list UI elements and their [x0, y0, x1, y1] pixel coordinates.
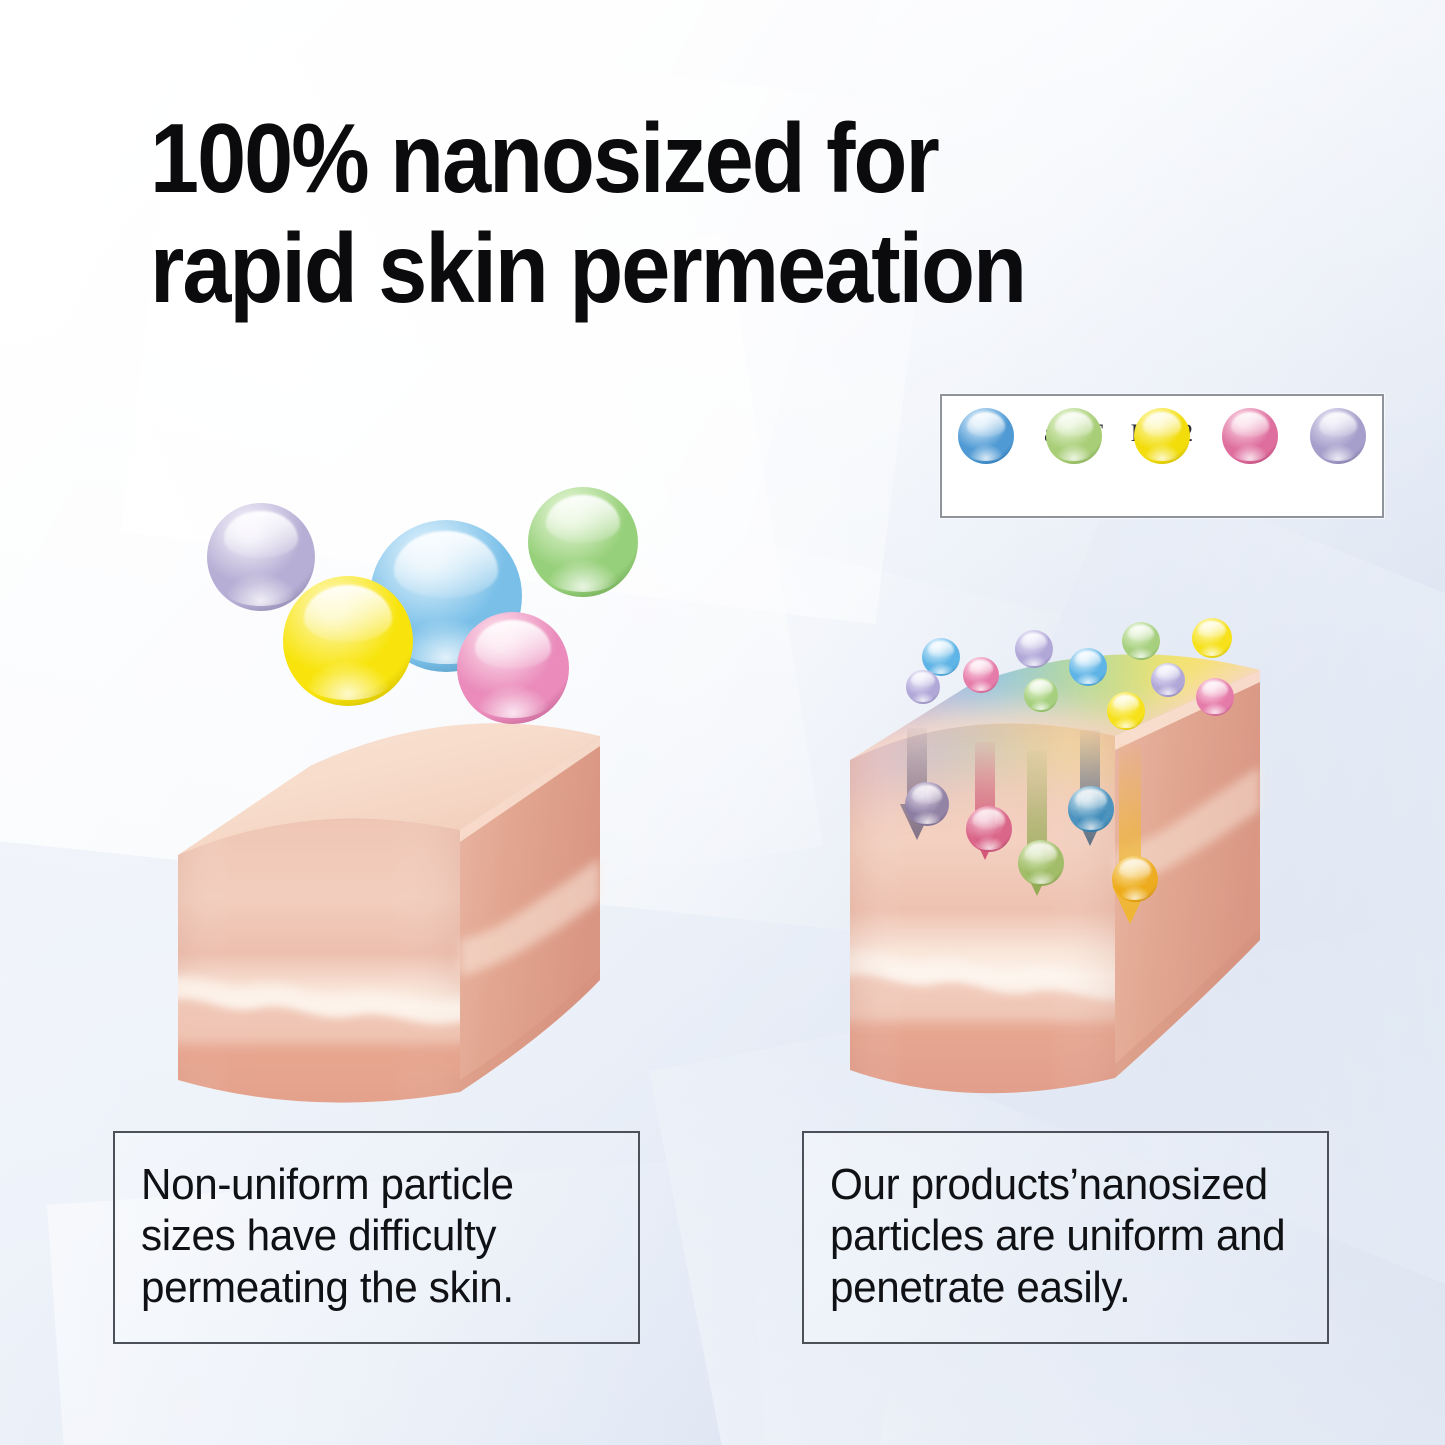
legend-orb-trx: [1310, 408, 1366, 464]
right-caption-text: Our products’nanosized particles are uni…: [830, 1159, 1296, 1313]
legend-item: PGF: [944, 408, 1028, 448]
legend-orb-pgf: [958, 408, 1014, 464]
page-title: 100% nanosized for rapid skin permeation: [150, 104, 1212, 324]
absorbed-particle: [966, 806, 1012, 852]
surface-particle: [1024, 678, 1058, 712]
legend-item: TRX: [1296, 408, 1380, 448]
legend-orb-egf: [1222, 408, 1278, 464]
infographic-canvas: 100% nanosized for rapid skin permeation…: [0, 0, 1445, 1445]
absorbed-particle: [905, 782, 949, 826]
surface-particle: [1192, 618, 1232, 658]
left-caption-box: Non-uniform particle sizes have difficul…: [113, 1131, 640, 1344]
surface-particle: [963, 657, 999, 693]
absorbed-particle: [1068, 786, 1114, 832]
particle-igf2-large: [283, 576, 413, 706]
legend-item: aEGF: [1032, 408, 1116, 448]
absorbed-particle: [1018, 840, 1064, 886]
surface-particle: [1069, 648, 1107, 686]
surface-particle: [1196, 678, 1234, 716]
particle-aegf-large: [528, 487, 638, 597]
absorbed-particle: [1112, 856, 1158, 902]
surface-particle: [1151, 663, 1185, 697]
particle-egf-large: [457, 612, 569, 724]
legend-orb-igf2: [1134, 408, 1190, 464]
left-caption-text: Non-uniform particle sizes have difficul…: [141, 1159, 607, 1313]
surface-particle: [1107, 692, 1145, 730]
surface-particle: [1015, 630, 1053, 668]
left-skin-block: [160, 650, 640, 1110]
legend-orb-aegf: [1046, 408, 1102, 464]
legend-item: EGF: [1208, 408, 1292, 448]
right-caption-box: Our products’nanosized particles are uni…: [802, 1131, 1329, 1344]
surface-particle: [1122, 622, 1160, 660]
surface-particle: [906, 670, 940, 704]
growth-factor-legend: PGF aEGF IGF-2 EGF TRX: [940, 394, 1384, 518]
legend-item: IGF-2: [1120, 408, 1204, 448]
particle-trx-large: [207, 503, 315, 611]
